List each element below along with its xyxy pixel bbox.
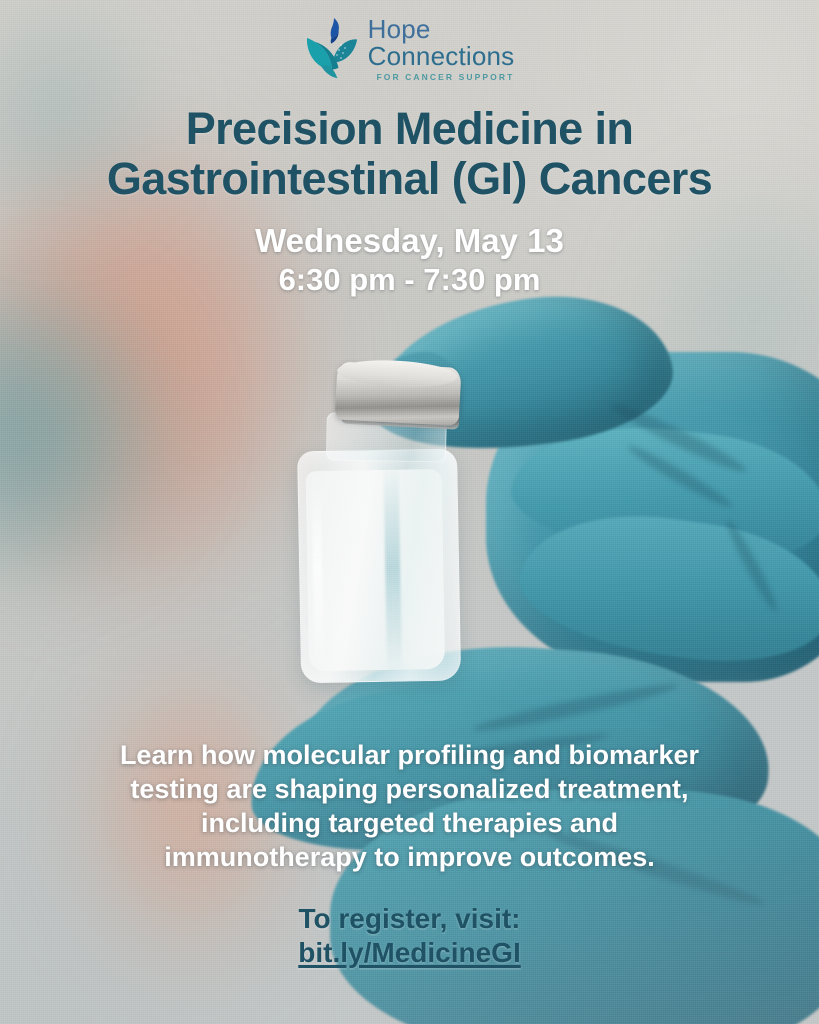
event-description: Learn how molecular profiling and biomar… xyxy=(54,738,765,874)
description-line-2: testing are shaping personalized treatme… xyxy=(54,772,765,806)
registration-block: To register, visit: bit.ly/MedicineGI xyxy=(18,902,801,970)
registration-link[interactable]: bit.ly/MedicineGI xyxy=(298,936,520,970)
title-line-1: Precision Medicine in xyxy=(186,103,634,154)
flyer-content: Hope Connections FOR CANCER SUPPORT Prec… xyxy=(0,0,819,1024)
logo-wordmark: Hope Connections FOR CANCER SUPPORT xyxy=(368,16,515,82)
logo-name-line1: Hope xyxy=(368,16,515,42)
description-line-4: immunotherapy to improve outcomes. xyxy=(54,840,765,874)
event-flyer: Hope Connections FOR CANCER SUPPORT Prec… xyxy=(0,0,819,1024)
event-datetime: Wednesday, May 13 6:30 pm - 7:30 pm xyxy=(18,222,801,298)
event-date: Wednesday, May 13 xyxy=(255,222,564,259)
logo-name-line2: Connections xyxy=(368,43,515,69)
event-time: 6:30 pm - 7:30 pm xyxy=(18,262,801,298)
title-line-2: Gastrointestinal (GI) Cancers xyxy=(18,154,801,204)
page-title: Precision Medicine in Gastrointestinal (… xyxy=(18,104,801,203)
logo-tagline: FOR CANCER SUPPORT xyxy=(368,73,515,82)
description-line-3: including targeted therapies and xyxy=(54,806,765,840)
registration-prompt: To register, visit: xyxy=(18,902,801,936)
organization-logo[interactable]: Hope Connections FOR CANCER SUPPORT xyxy=(0,16,819,82)
hope-leaf-flame-icon xyxy=(305,16,359,82)
description-line-1: Learn how molecular profiling and biomar… xyxy=(54,738,765,772)
